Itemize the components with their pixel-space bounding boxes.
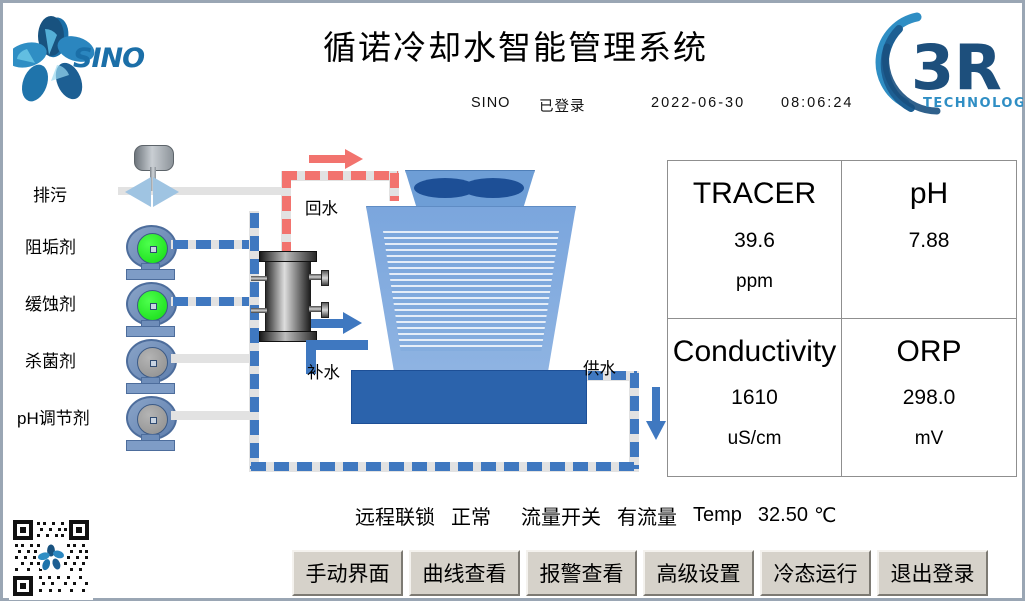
qr-code[interactable] xyxy=(9,516,93,600)
label-blowdown: 排污 xyxy=(33,181,67,206)
makeup-pipe-across xyxy=(306,340,368,350)
qr-code-icon xyxy=(9,516,93,600)
label-biocide: 杀菌剂 xyxy=(25,347,76,372)
return-flow-down xyxy=(282,173,291,251)
trend-view-button[interactable]: 曲线查看 xyxy=(409,550,520,596)
label-makeup-water: 补水 xyxy=(307,359,340,383)
logout-button[interactable]: 退出登录 xyxy=(877,550,988,596)
readout-conductivity: Conductivity 1610 uS/cm xyxy=(668,319,842,477)
svg-text:TECHNOLOGY: TECHNOLOGY xyxy=(923,96,1023,111)
status-interlock-value: 正常 xyxy=(451,501,491,530)
label-supply-water: 供水 xyxy=(583,355,616,379)
feed-line-biocide xyxy=(171,354,257,363)
label-ph-adjuster: pH调节剂 xyxy=(17,404,90,429)
system-time: 08:06:24 xyxy=(781,95,853,111)
process-diagram: 排污 阻垢剂 缓蚀剂 杀菌剂 pH调节剂 xyxy=(3,131,663,491)
hmi-screen: SINO 3R TECHNOLOGY 循诺冷却水智能管理系统 SINO 已登录 … xyxy=(0,0,1025,601)
supply-flow-left xyxy=(250,213,259,469)
readout-tracer: TRACER 39.6 ppm xyxy=(668,161,842,319)
feed-flow-corrosion xyxy=(173,297,257,306)
status-temp-unit: ℃ xyxy=(814,503,836,528)
supply-flow-bottom xyxy=(251,462,637,471)
manual-interface-button[interactable]: 手动界面 xyxy=(292,550,403,596)
alarm-view-button[interactable]: 报警查看 xyxy=(526,550,637,596)
label-scale-inhibitor: 阻垢剂 xyxy=(25,233,76,258)
measurement-panel: TRACER 39.6 ppm pH 7.88 Conductivity 161… xyxy=(667,160,1017,477)
feed-flow-scale xyxy=(173,240,257,249)
tower-basin xyxy=(351,370,587,424)
cold-start-run-button[interactable]: 冷态运行 xyxy=(760,550,871,596)
fan-blades-icon xyxy=(413,175,525,201)
status-interlock-label: 远程联锁 xyxy=(355,501,435,530)
feed-line-ph xyxy=(171,411,257,420)
status-flow-label: 流量开关 xyxy=(521,501,601,530)
advanced-settings-button[interactable]: 高级设置 xyxy=(643,550,754,596)
label-corrosion-inhibitor: 缓蚀剂 xyxy=(25,290,76,315)
login-status: 已登录 xyxy=(539,95,586,116)
status-temp-value: 32.50 xyxy=(758,504,808,527)
supply-flow-right xyxy=(630,373,639,469)
tower-fill-pack xyxy=(383,231,559,351)
system-date: 2022-06-30 xyxy=(651,95,745,111)
return-flow-tower xyxy=(390,173,399,201)
action-button-bar: 手动界面 曲线查看 报警查看 高级设置 冷态运行 退出登录 xyxy=(292,550,988,596)
return-flow-top xyxy=(282,171,398,180)
status-temp-label: Temp xyxy=(693,504,742,527)
status-bar: 远程联锁 正常 流量开关 有流量 Temp 32.50 ℃ xyxy=(355,500,1015,530)
readout-ph: pH 7.88 xyxy=(842,161,1016,319)
readout-orp: ORP 298.0 mV xyxy=(842,319,1016,477)
status-flow-value: 有流量 xyxy=(617,501,677,530)
page-title: 循诺冷却水智能管理系统 xyxy=(3,21,1025,69)
user-name: SINO xyxy=(471,95,510,111)
label-return-water: 回水 xyxy=(305,195,338,219)
